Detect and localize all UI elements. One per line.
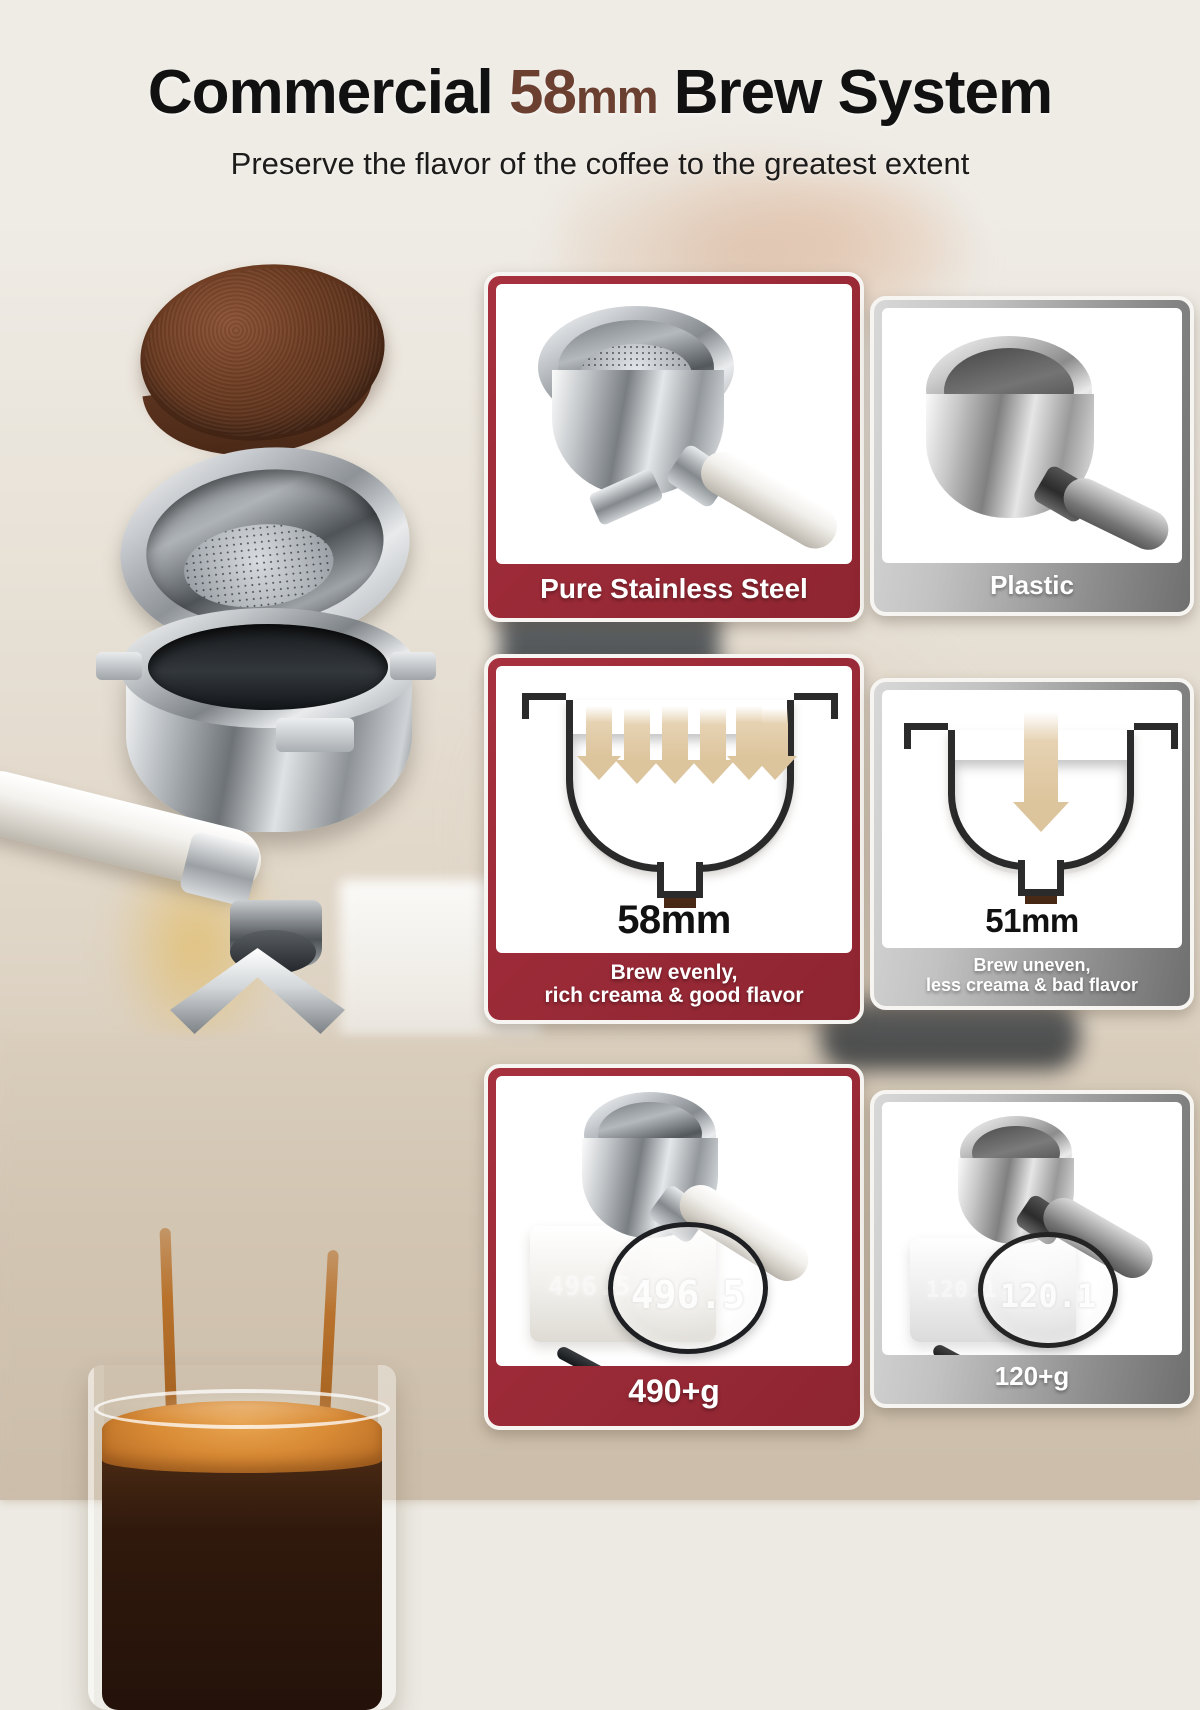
magnified-scale-reading: 496.5 <box>613 1273 763 1317</box>
magnifier-lens: 496.5 <box>608 1222 768 1354</box>
card-caption: Brew uneven, less creama & bad flavor <box>874 948 1190 1006</box>
card-caption: Brew evenly, rich creama & good flavor <box>488 953 860 1020</box>
card-490g[interactable]: 496.5 496.5 490+g <box>484 1064 864 1430</box>
comparison-row-material: Pure Stainless Steel Plastic <box>478 272 1200 644</box>
comparison-grid: Pure Stainless Steel Plastic <box>478 272 1200 1500</box>
portafilter-handle <box>1057 471 1175 556</box>
comparison-row-extraction: 58mm Brew evenly, rich creama & good fla… <box>478 644 1200 1056</box>
size-label: 51mm <box>882 902 1182 940</box>
heavy-portafilter-on-scale-image: 496.5 496.5 <box>496 1076 852 1366</box>
uneven-extraction-diagram: 51mm <box>882 690 1182 948</box>
portafilter-handle <box>693 443 845 556</box>
card-image-frame: 58mm <box>496 666 852 953</box>
caption-line-2: rich creama & good flavor <box>488 984 860 1008</box>
card-image-frame: 51mm <box>882 690 1182 948</box>
flow-arrow <box>586 706 612 758</box>
header: Commercial 58mm Brew System Preserve the… <box>0 0 1200 210</box>
funnel-step-right <box>1171 723 1178 749</box>
stainless-steel-portafilter-image <box>496 284 852 564</box>
card-58mm-extraction[interactable]: 58mm Brew evenly, rich creama & good fla… <box>484 654 864 1024</box>
light-portafilter-on-scale-image: 120.1 120.1 <box>882 1102 1182 1355</box>
flow-arrow <box>1024 712 1058 804</box>
caption-line-1: Brew evenly, <box>488 961 860 985</box>
card-caption: 120+g <box>874 1355 1190 1404</box>
portafilter-lug-right <box>390 652 436 680</box>
title-text-trailing: Brew System <box>658 58 1053 127</box>
funnel-step-left <box>904 723 911 749</box>
portafilter-tab <box>276 718 354 752</box>
hero-product-photo <box>0 210 480 1500</box>
comparison-row-weight: 496.5 496.5 490+g <box>478 1056 1200 1466</box>
espresso-glass <box>88 1365 396 1710</box>
card-plastic[interactable]: Plastic <box>870 296 1194 616</box>
magnifier-lens: 120.1 <box>978 1232 1118 1348</box>
card-caption: 490+g <box>488 1366 860 1426</box>
magnifier-handle <box>555 1345 646 1366</box>
flow-arrow <box>700 708 726 762</box>
title-accent-number: 58 <box>509 58 576 127</box>
card-caption: Pure Stainless Steel <box>488 564 860 618</box>
magnified-scale-reading: 120.1 <box>983 1277 1113 1315</box>
title-text-leading: Commercial <box>148 58 509 127</box>
card-120g[interactable]: 120.1 120.1 120+g <box>870 1090 1194 1408</box>
funnel-step-left <box>522 693 529 719</box>
even-extraction-diagram: 58mm <box>496 666 852 953</box>
dual-spout <box>170 948 345 1034</box>
espresso-liquid <box>102 1453 382 1710</box>
card-caption: Plastic <box>874 563 1190 612</box>
portafilter-spout-assembly <box>190 900 390 1080</box>
caption-line-1: Brew uneven, <box>874 955 1190 975</box>
card-image-frame <box>882 308 1182 563</box>
page-subtitle: Preserve the flavor of the coffee to the… <box>0 146 1200 182</box>
portafilter-cavity <box>148 624 388 710</box>
size-label: 58mm <box>496 898 852 943</box>
card-image-frame: 120.1 120.1 <box>882 1102 1182 1355</box>
glass-rim <box>94 1389 390 1429</box>
caption-line-2: less creama & bad flavor <box>874 975 1190 995</box>
funnel-51mm <box>948 730 1134 896</box>
flow-arrow <box>736 706 762 758</box>
funnel-58mm <box>566 700 794 898</box>
title-accent-unit: mm <box>576 70 658 123</box>
flow-arrow <box>762 708 788 758</box>
card-image-frame <box>496 284 852 564</box>
card-51mm-extraction[interactable]: 51mm Brew uneven, less creama & bad flav… <box>870 678 1194 1010</box>
portafilter-lug-left <box>96 652 142 680</box>
magnifier-handle <box>931 1343 1011 1355</box>
flow-arrow <box>662 706 688 762</box>
page-title: Commercial 58mm Brew System <box>0 62 1200 124</box>
card-pure-stainless-steel[interactable]: Pure Stainless Steel <box>484 272 864 622</box>
funnel-spout <box>657 862 703 898</box>
funnel-spout <box>1018 860 1064 896</box>
plastic-portafilter-image <box>882 308 1182 563</box>
flow-arrow <box>624 708 650 762</box>
card-image-frame: 496.5 496.5 <box>496 1076 852 1366</box>
funnel-step-right <box>831 693 838 719</box>
